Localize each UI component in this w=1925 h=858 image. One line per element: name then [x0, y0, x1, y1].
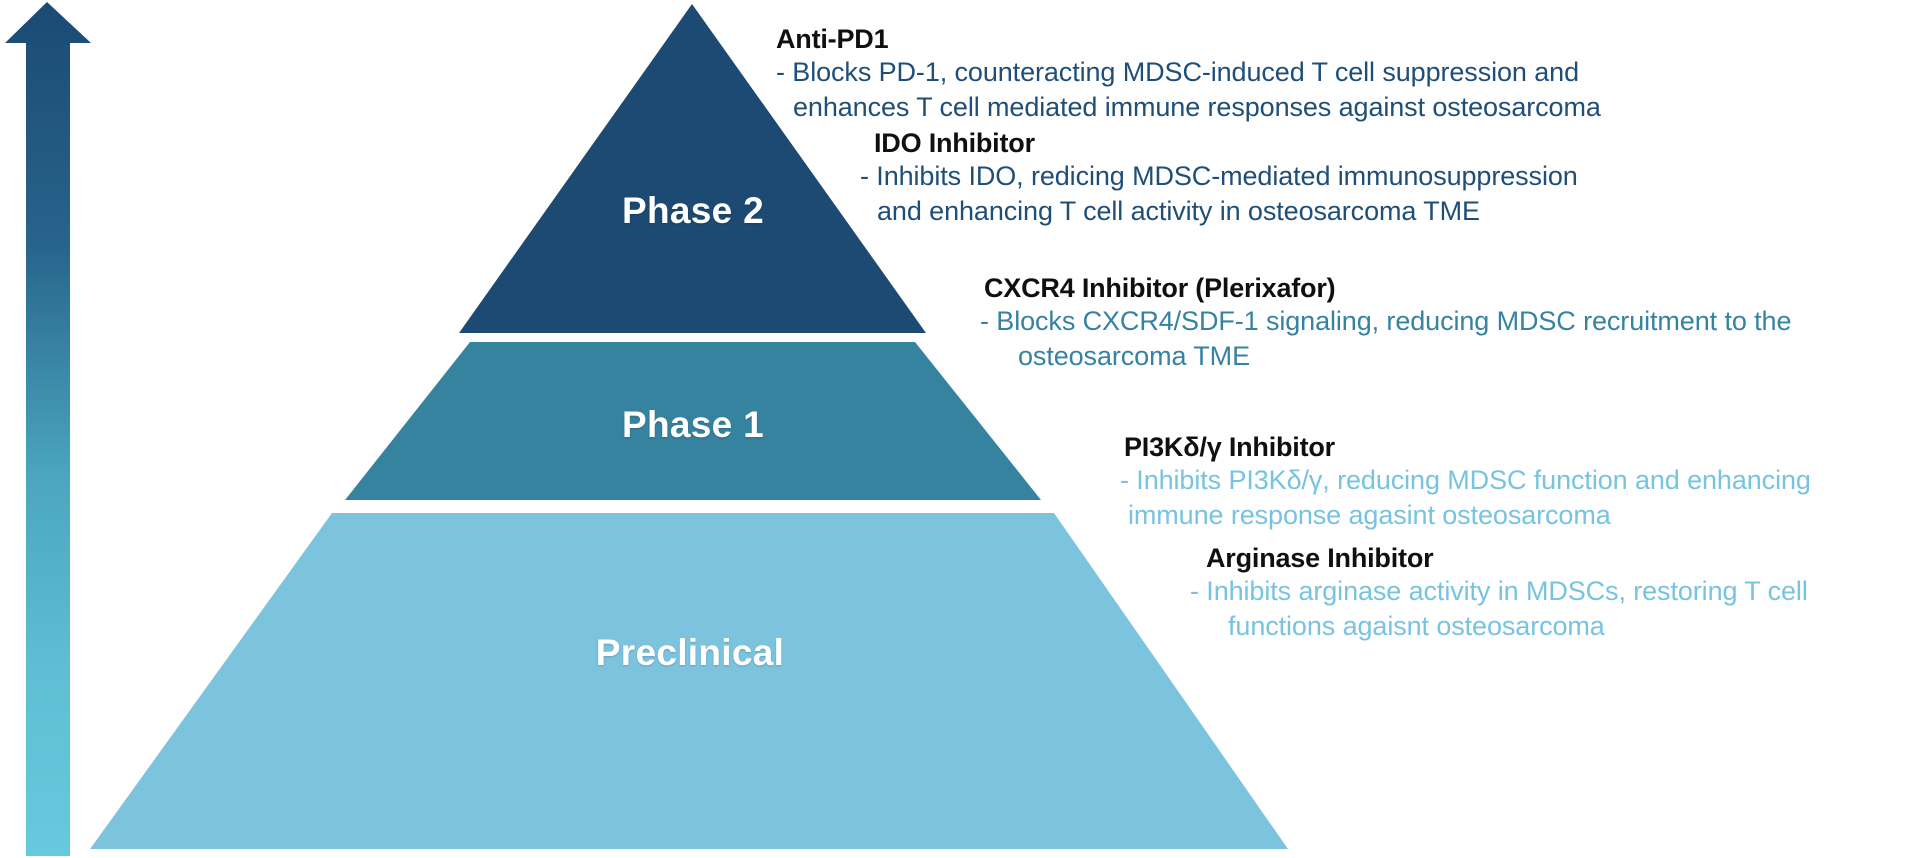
pyramid-tier-preclinical[interactable] — [90, 513, 1288, 849]
annotation-line: - Blocks CXCR4/SDF-1 signaling, reducing… — [980, 304, 1791, 338]
pyramid-tier-label-preclinical: Preclinical — [200, 632, 1180, 674]
diagram-canvas: Phase 2 Phase 1 Preclinical Anti-PD1 - B… — [0, 0, 1925, 858]
annotation-line: enhances T cell mediated immune response… — [776, 90, 1601, 124]
annotation-line: immune response agasint osteosarcoma — [1120, 498, 1811, 532]
annotation-body-anti-pd1: - Blocks PD-1, counteracting MDSC-induce… — [776, 55, 1601, 124]
annotation-title-cxcr4-inhibitor: CXCR4 Inhibitor (Plerixafor) — [980, 273, 1791, 304]
annotation-line: functions agaisnt osteosarcoma — [1190, 609, 1808, 643]
pyramid-tier-label-phase1: Phase 1 — [345, 404, 1041, 446]
annotation-body-cxcr4-inhibitor: - Blocks CXCR4/SDF-1 signaling, reducing… — [980, 304, 1791, 373]
annotation-line: - Inhibits arginase activity in MDSCs, r… — [1190, 574, 1808, 608]
annotation-title-pi3k-inhibitor: PI3Kδ/γ Inhibitor — [1120, 432, 1811, 463]
annotation-line: - Inhibits PI3Kδ/γ, reducing MDSC functi… — [1120, 463, 1811, 497]
annotation-title-ido-inhibitor: IDO Inhibitor — [860, 128, 1578, 159]
annotation-body-ido-inhibitor: - Inhibits IDO, redicing MDSC-mediated i… — [860, 159, 1578, 228]
annotation-ido-inhibitor: IDO Inhibitor - Inhibits IDO, redicing M… — [860, 128, 1578, 228]
annotation-cxcr4-inhibitor: CXCR4 Inhibitor (Plerixafor) - Blocks CX… — [980, 273, 1791, 373]
annotation-title-arginase-inhibitor: Arginase Inhibitor — [1190, 543, 1808, 574]
annotation-pi3k-inhibitor: PI3Kδ/γ Inhibitor - Inhibits PI3Kδ/γ, re… — [1120, 432, 1811, 532]
annotation-line: osteosarcoma TME — [980, 339, 1791, 373]
annotation-title-anti-pd1: Anti-PD1 — [776, 24, 1601, 55]
annotation-line: and enhancing T cell activity in osteosa… — [860, 194, 1578, 228]
annotation-anti-pd1: Anti-PD1 - Blocks PD-1, counteracting MD… — [776, 24, 1601, 124]
annotation-line: - Blocks PD-1, counteracting MDSC-induce… — [776, 55, 1601, 89]
annotation-arginase-inhibitor: Arginase Inhibitor - Inhibits arginase a… — [1190, 543, 1808, 643]
annotation-body-pi3k-inhibitor: - Inhibits PI3Kδ/γ, reducing MDSC functi… — [1120, 463, 1811, 532]
annotation-body-arginase-inhibitor: - Inhibits arginase activity in MDSCs, r… — [1190, 574, 1808, 643]
annotation-line: - Inhibits IDO, redicing MDSC-mediated i… — [860, 159, 1578, 193]
pyramid-tier-label-phase2: Phase 2 — [460, 190, 926, 232]
